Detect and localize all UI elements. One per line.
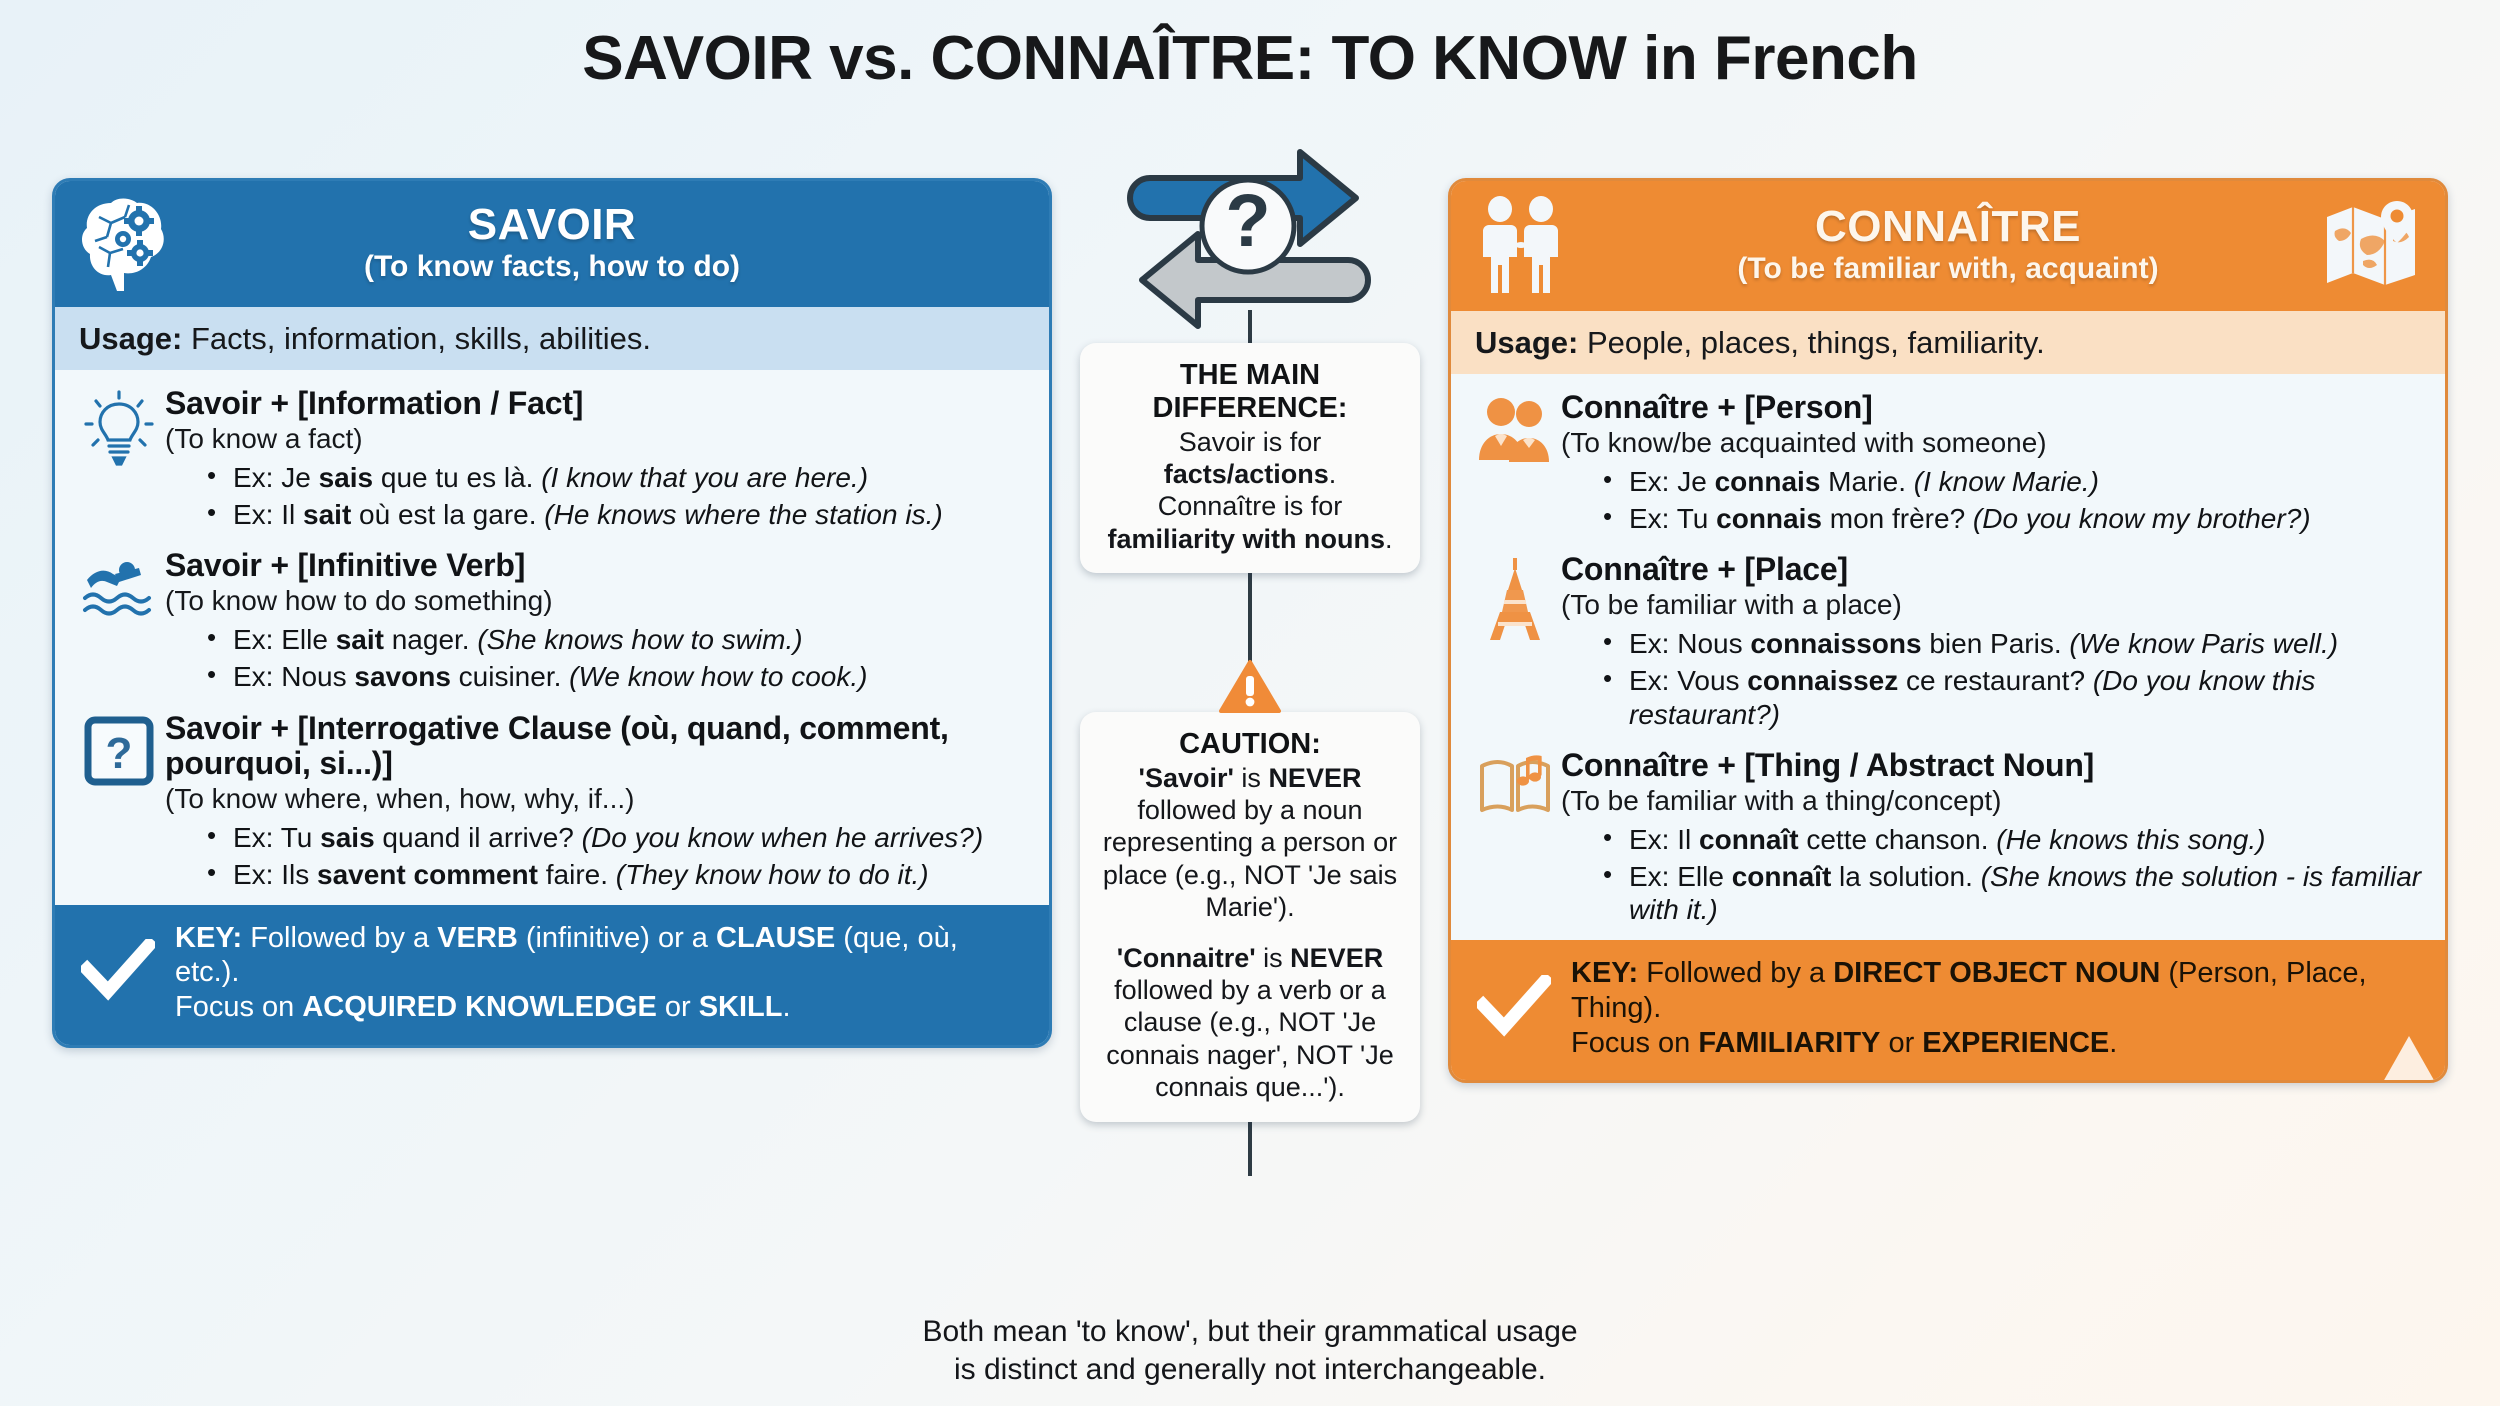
main-difference-box: THE MAIN DIFFERENCE: Savoir is for facts…	[1080, 343, 1420, 573]
savoir-key-text: KEY: Followed by a VERB (infinitive) or …	[175, 921, 1025, 1025]
savoir-usage-label: Usage:	[79, 321, 182, 356]
savoir-key-footer: KEY: Followed by a VERB (infinitive) or …	[55, 905, 1049, 1045]
md-2a: Connaître is for	[1158, 491, 1343, 521]
example-item: Ex: Elle connaît la solution. (She knows…	[1603, 860, 2423, 927]
example-list: Ex: Tu sais quand il arrive? (Do you kno…	[207, 821, 1027, 891]
caution-p1-never: NEVER	[1268, 763, 1361, 793]
example-verb: connaissez	[1747, 665, 1898, 696]
check-icon	[81, 939, 155, 1006]
example-item: Ex: Vous connaissez ce restaurant? (Do y…	[1603, 664, 2423, 731]
main-difference-line-2: Connaître is for familiarity with nouns.	[1096, 490, 1404, 555]
brain-gears-icon	[77, 195, 187, 291]
example-list: Ex: Je sais que tu es là. (I know that y…	[207, 461, 1027, 531]
swimmer-icon	[73, 548, 165, 696]
comparison-board: SAVOIR (To know facts, how to do) Usage:…	[0, 178, 2500, 1288]
example-item: Ex: Tu connais mon frère? (Do you know m…	[1603, 502, 2423, 536]
caution-p1-d: followed by a noun representing a person…	[1103, 795, 1397, 922]
example-mid: ce restaurant?	[1898, 665, 2093, 696]
key-label: KEY:	[1571, 957, 1638, 989]
connaitre-section-place: Connaître + [Place] (To be familiar with…	[1469, 552, 2423, 734]
section-gloss: (To be familiar with a thing/concept)	[1561, 785, 2423, 817]
example-prefix: Ex: Il	[233, 499, 303, 530]
key-emph-familiarity: FAMILIARITY	[1698, 1027, 1880, 1059]
caution-p2-b: is	[1256, 943, 1291, 973]
example-item: Ex: Je sais que tu es là. (I know that y…	[207, 461, 1027, 495]
key-line2-d: .	[782, 991, 790, 1023]
section-gloss: (To know how to do something)	[165, 585, 1027, 617]
example-prefix: Ex: Je	[233, 462, 319, 493]
example-item: Ex: Il sait où est la gare. (He knows wh…	[207, 498, 1027, 532]
connaitre-usage-bar: Usage: People, places, things, familiari…	[1451, 311, 2445, 374]
example-translation: (He knows this song.)	[1996, 824, 2265, 855]
example-verb: sait	[303, 499, 351, 530]
caution-p2-term: 'Connaitre'	[1117, 943, 1256, 973]
people-pair-icon	[1469, 390, 1561, 538]
savoir-subtitle: (To know facts, how to do)	[187, 250, 917, 285]
example-verb: sais	[320, 822, 375, 853]
example-prefix: Ex: Ils	[233, 859, 317, 890]
check-icon	[1477, 975, 1551, 1042]
example-item: Ex: Tu sais quand il arrive? (Do you kno…	[207, 821, 1027, 855]
example-prefix: Ex: Je	[1629, 466, 1715, 497]
key-emph-knowledge: ACQUIRED KNOWLEDGE	[302, 991, 656, 1023]
section-title: Connaître + [Person]	[1561, 390, 2423, 426]
example-translation: (They know how to do it.)	[616, 859, 929, 890]
connaitre-body: Connaître + [Person] (To know/be acquain…	[1451, 374, 2445, 940]
example-prefix: Ex: Il	[1629, 824, 1699, 855]
example-translation: (I know Marie.)	[1914, 466, 2099, 497]
example-list: Ex: Nous connaissons bien Paris. (We kno…	[1603, 627, 2423, 731]
example-mid: quand il arrive?	[375, 822, 582, 853]
eiffel-tower-icon	[1469, 552, 1561, 734]
example-item: Ex: Je connais Marie. (I know Marie.)	[1603, 465, 2423, 499]
example-mid: nager.	[384, 624, 477, 655]
example-mid: cuisiner.	[451, 661, 569, 692]
section-title: Savoir + [Infinitive Verb]	[165, 548, 1027, 584]
example-translation: (Do you know when he arrives?)	[582, 822, 984, 853]
main-difference-line-1: Savoir is for facts/actions.	[1096, 426, 1404, 491]
caution-paragraph-1: 'Savoir' is NEVER followed by a noun rep…	[1096, 762, 1404, 924]
caution-p1-b: is	[1234, 763, 1269, 793]
caution-spacer	[1096, 924, 1404, 942]
key-line2-c: or	[1880, 1027, 1922, 1059]
open-book-music-icon	[1469, 748, 1561, 930]
savoir-section-information-fact: Savoir + [Information / Fact] (To know a…	[73, 386, 1027, 534]
example-item: Ex: Il connaît cette chanson. (He knows …	[1603, 823, 2423, 857]
example-verb: connaissons	[1750, 628, 1921, 659]
example-translation: (Do you know my brother?)	[1973, 503, 2311, 534]
example-mid: mon frère?	[1822, 503, 1973, 534]
svg-text:?: ?	[106, 729, 133, 778]
key-emph-clause: CLAUSE	[716, 922, 835, 954]
savoir-section-interrogative-clause: ? Savoir + [Interrogative Clause (où, qu…	[73, 711, 1027, 895]
example-translation: (She knows how to swim.)	[477, 624, 802, 655]
connaitre-key-text: KEY: Followed by a DIRECT OBJECT NOUN (P…	[1571, 956, 2421, 1060]
example-verb: sais	[319, 462, 374, 493]
connaitre-panel: CONNAÎTRE (To be familiar with, acquaint…	[1448, 178, 2448, 1083]
connaitre-subtitle: (To be familiar with, acquaint)	[1577, 252, 2319, 287]
key-line2-d: .	[2109, 1027, 2117, 1059]
md-1b: facts/actions	[1164, 459, 1329, 489]
md-1c: .	[1329, 459, 1337, 489]
main-difference-title: THE MAIN DIFFERENCE:	[1096, 359, 1404, 426]
connaitre-title: CONNAÎTRE	[1577, 204, 2319, 250]
savoir-panel: SAVOIR (To know facts, how to do) Usage:…	[52, 178, 1052, 1048]
caution-p1-term: 'Savoir'	[1139, 763, 1234, 793]
example-mid: que tu es là.	[373, 462, 541, 493]
example-verb: savent comment	[317, 859, 538, 890]
key-emph-experience: EXPERIENCE	[1922, 1027, 2109, 1059]
example-item: Ex: Nous connaissons bien Paris. (We kno…	[1603, 627, 2423, 661]
question-box-icon: ?	[73, 711, 165, 895]
example-mid: Marie.	[1820, 466, 1913, 497]
caution-box: CAUTION: 'Savoir' is NEVER followed by a…	[1080, 712, 1420, 1121]
key-text-a: Followed by a	[1638, 957, 1833, 989]
savoir-body: Savoir + [Information / Fact] (To know a…	[55, 370, 1049, 904]
example-item: Ex: Ils savent comment faire. (They know…	[207, 858, 1027, 892]
corner-flourish-icon	[2383, 1036, 2435, 1082]
example-verb: connaît	[1732, 861, 1832, 892]
example-verb: connais	[1716, 503, 1822, 534]
caution-title: CAUTION:	[1096, 728, 1404, 761]
example-prefix: Ex: Vous	[1629, 665, 1747, 696]
savoir-header: SAVOIR (To know facts, how to do)	[55, 181, 1049, 307]
section-gloss: (To know where, when, how, why, if...)	[165, 783, 1027, 815]
key-line2-a: Focus on	[175, 991, 302, 1023]
section-gloss: (To know/be acquainted with someone)	[1561, 427, 2423, 459]
lightbulb-icon	[73, 386, 165, 534]
example-translation: (He knows where the station is.)	[544, 499, 942, 530]
caution-p2-never: NEVER	[1290, 943, 1383, 973]
savoir-section-infinitive-verb: Savoir + [Infinitive Verb] (To know how …	[73, 548, 1027, 696]
key-emph-verb: VERB	[437, 922, 518, 954]
key-text-c: (infinitive) or a	[518, 922, 716, 954]
warning-triangle-icon	[1219, 659, 1281, 720]
page-title: SAVOIR vs. CONNAÎTRE: TO KNOW in French	[0, 0, 2500, 91]
savoir-usage-text: Facts, information, skills, abilities.	[182, 321, 651, 356]
example-verb: sait	[336, 624, 384, 655]
key-line2-a: Focus on	[1571, 1027, 1698, 1059]
example-list: Ex: Je connais Marie. (I know Marie.) Ex…	[1603, 465, 2423, 535]
example-item: Ex: Nous savons cuisiner. (We know how t…	[207, 660, 1027, 694]
section-gloss: (To know a fact)	[165, 423, 1027, 455]
connaitre-section-thing-abstract-noun: Connaître + [Thing / Abstract Noun] (To …	[1469, 748, 2423, 930]
example-translation: (I know that you are here.)	[541, 462, 868, 493]
md-2c: .	[1385, 524, 1393, 554]
footer-caption: Both mean 'to know', but their grammatic…	[0, 1313, 2500, 1388]
section-gloss: (To be familiar with a place)	[1561, 589, 2423, 621]
example-mid: bien Paris.	[1922, 628, 2070, 659]
key-text-a: Followed by a	[242, 922, 437, 954]
key-emph-noun: DIRECT OBJECT NOUN	[1833, 957, 2160, 989]
example-prefix: Ex: Elle	[1629, 861, 1732, 892]
example-item: Ex: Elle sait nager. (She knows how to s…	[207, 623, 1027, 657]
svg-text:?: ?	[1225, 179, 1270, 262]
example-verb: connais	[1715, 466, 1821, 497]
center-column: ? THE MAIN DIFFERENCE: Savoir is for fac…	[1052, 178, 1448, 1288]
example-prefix: Ex: Nous	[1629, 628, 1750, 659]
example-prefix: Ex: Tu	[1629, 503, 1716, 534]
caption-line-2: is distinct and generally not interchang…	[0, 1351, 2500, 1389]
connaitre-usage-label: Usage:	[1475, 325, 1578, 360]
swap-arrows-question-icon: ?	[1120, 142, 1380, 337]
example-prefix: Ex: Tu	[233, 822, 320, 853]
md-2b: familiarity with nouns	[1107, 524, 1385, 554]
section-title: Savoir + [Information / Fact]	[165, 386, 1027, 422]
md-1a: Savoir is for	[1179, 427, 1322, 457]
section-title: Connaître + [Place]	[1561, 552, 2423, 588]
savoir-title: SAVOIR	[187, 202, 917, 248]
map-pin-icon	[2319, 197, 2423, 293]
key-emph-skill: SKILL	[699, 991, 783, 1023]
example-mid: faire.	[538, 859, 616, 890]
connaitre-key-footer: KEY: Followed by a DIRECT OBJECT NOUN (P…	[1451, 940, 2445, 1080]
connaitre-header: CONNAÎTRE (To be familiar with, acquaint…	[1451, 181, 2445, 311]
example-verb: savons	[354, 661, 451, 692]
key-line2-c: or	[657, 991, 699, 1023]
connaitre-section-person: Connaître + [Person] (To know/be acquain…	[1469, 390, 2423, 538]
example-mid: où est la gare.	[351, 499, 544, 530]
example-verb: connaît	[1699, 824, 1799, 855]
key-label: KEY:	[175, 922, 242, 954]
example-translation: (We know Paris well.)	[2069, 628, 2338, 659]
example-prefix: Ex: Nous	[233, 661, 354, 692]
example-mid: cette chanson.	[1799, 824, 1997, 855]
example-list: Ex: Il connaît cette chanson. (He knows …	[1603, 823, 2423, 927]
savoir-usage-bar: Usage: Facts, information, skills, abili…	[55, 307, 1049, 370]
example-list: Ex: Elle sait nager. (She knows how to s…	[207, 623, 1027, 693]
example-mid: la solution.	[1831, 861, 1980, 892]
caution-paragraph-2: 'Connaitre' is NEVER followed by a verb …	[1096, 942, 1404, 1104]
example-prefix: Ex: Elle	[233, 624, 336, 655]
section-title: Connaître + [Thing / Abstract Noun]	[1561, 748, 2423, 784]
caution-p2-d: followed by a verb or a clause (e.g., NO…	[1106, 975, 1393, 1102]
caption-line-1: Both mean 'to know', but their grammatic…	[0, 1313, 2500, 1351]
connaitre-usage-text: People, places, things, familiarity.	[1578, 325, 2044, 360]
section-title: Savoir + [Interrogative Clause (où, quan…	[165, 711, 1027, 783]
example-translation: (We know how to cook.)	[569, 661, 867, 692]
two-people-handshake-icon	[1473, 195, 1577, 295]
